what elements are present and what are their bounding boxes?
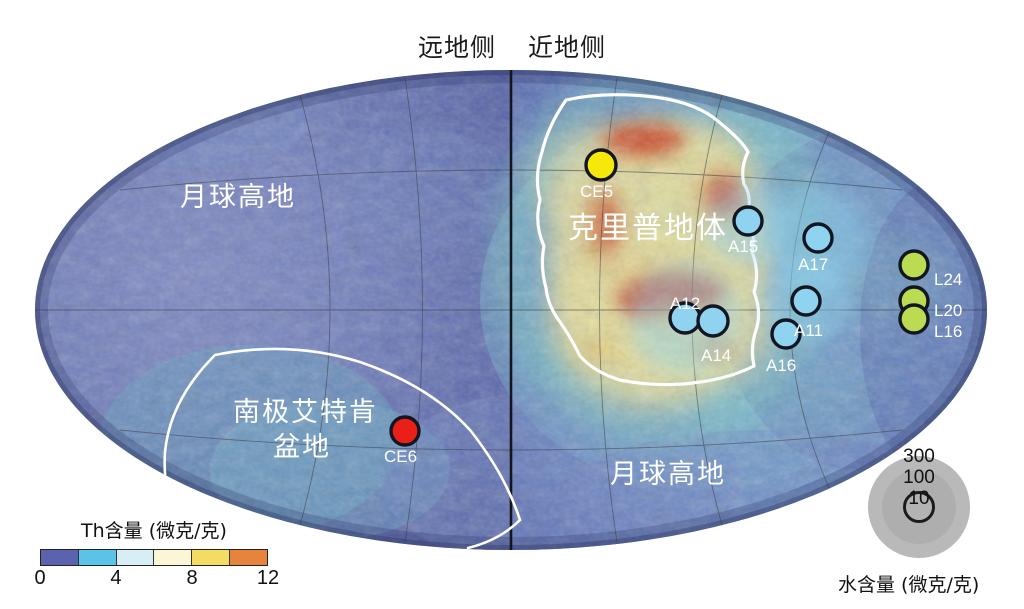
site-marker-CE6[interactable] xyxy=(391,417,419,445)
th-colorbar-segment-0 xyxy=(41,550,79,565)
water-content-legend: 300 100 10 水含量 (微克/克) xyxy=(852,452,1012,602)
th-legend-title: Th含量 (微克/克) xyxy=(40,516,268,543)
site-marker-A11[interactable] xyxy=(792,287,820,315)
th-colorbar-ticks: 04812 xyxy=(40,567,268,593)
water-legend-title: 水含量 (微克/克) xyxy=(838,570,979,597)
site-marker-A14[interactable] xyxy=(698,306,728,336)
th-colorbar-segment-5 xyxy=(230,550,267,565)
th-colorbar-segment-3 xyxy=(154,550,192,565)
th-colorbar-segment-1 xyxy=(79,550,117,565)
th-colorbar-segment-2 xyxy=(117,550,155,565)
site-marker-CE5[interactable] xyxy=(586,150,616,180)
figure-root: 远地侧 近地侧 xyxy=(0,0,1024,609)
site-marker-L24[interactable] xyxy=(900,251,928,279)
site-marker-A17[interactable] xyxy=(804,224,832,252)
site-marker-L16[interactable] xyxy=(900,305,928,333)
water-value-100: 100 xyxy=(859,467,979,489)
th-tick-0: 0 xyxy=(34,567,45,590)
th-tick-12: 12 xyxy=(257,567,279,590)
water-legend-circles: 300 100 10 xyxy=(852,452,992,562)
th-colorbar-segment-4 xyxy=(192,550,230,565)
site-marker-A15[interactable] xyxy=(734,207,762,235)
water-value-10: 10 xyxy=(859,488,979,510)
th-colorbar xyxy=(40,549,268,566)
th-tick-8: 8 xyxy=(186,567,197,590)
th-tick-4: 4 xyxy=(110,567,121,590)
th-colorbar-legend: Th含量 (微克/克) 04812 xyxy=(40,516,268,593)
site-marker-A16[interactable] xyxy=(772,320,800,348)
water-value-300: 300 xyxy=(859,446,979,468)
site-marker-A12[interactable] xyxy=(670,303,700,333)
